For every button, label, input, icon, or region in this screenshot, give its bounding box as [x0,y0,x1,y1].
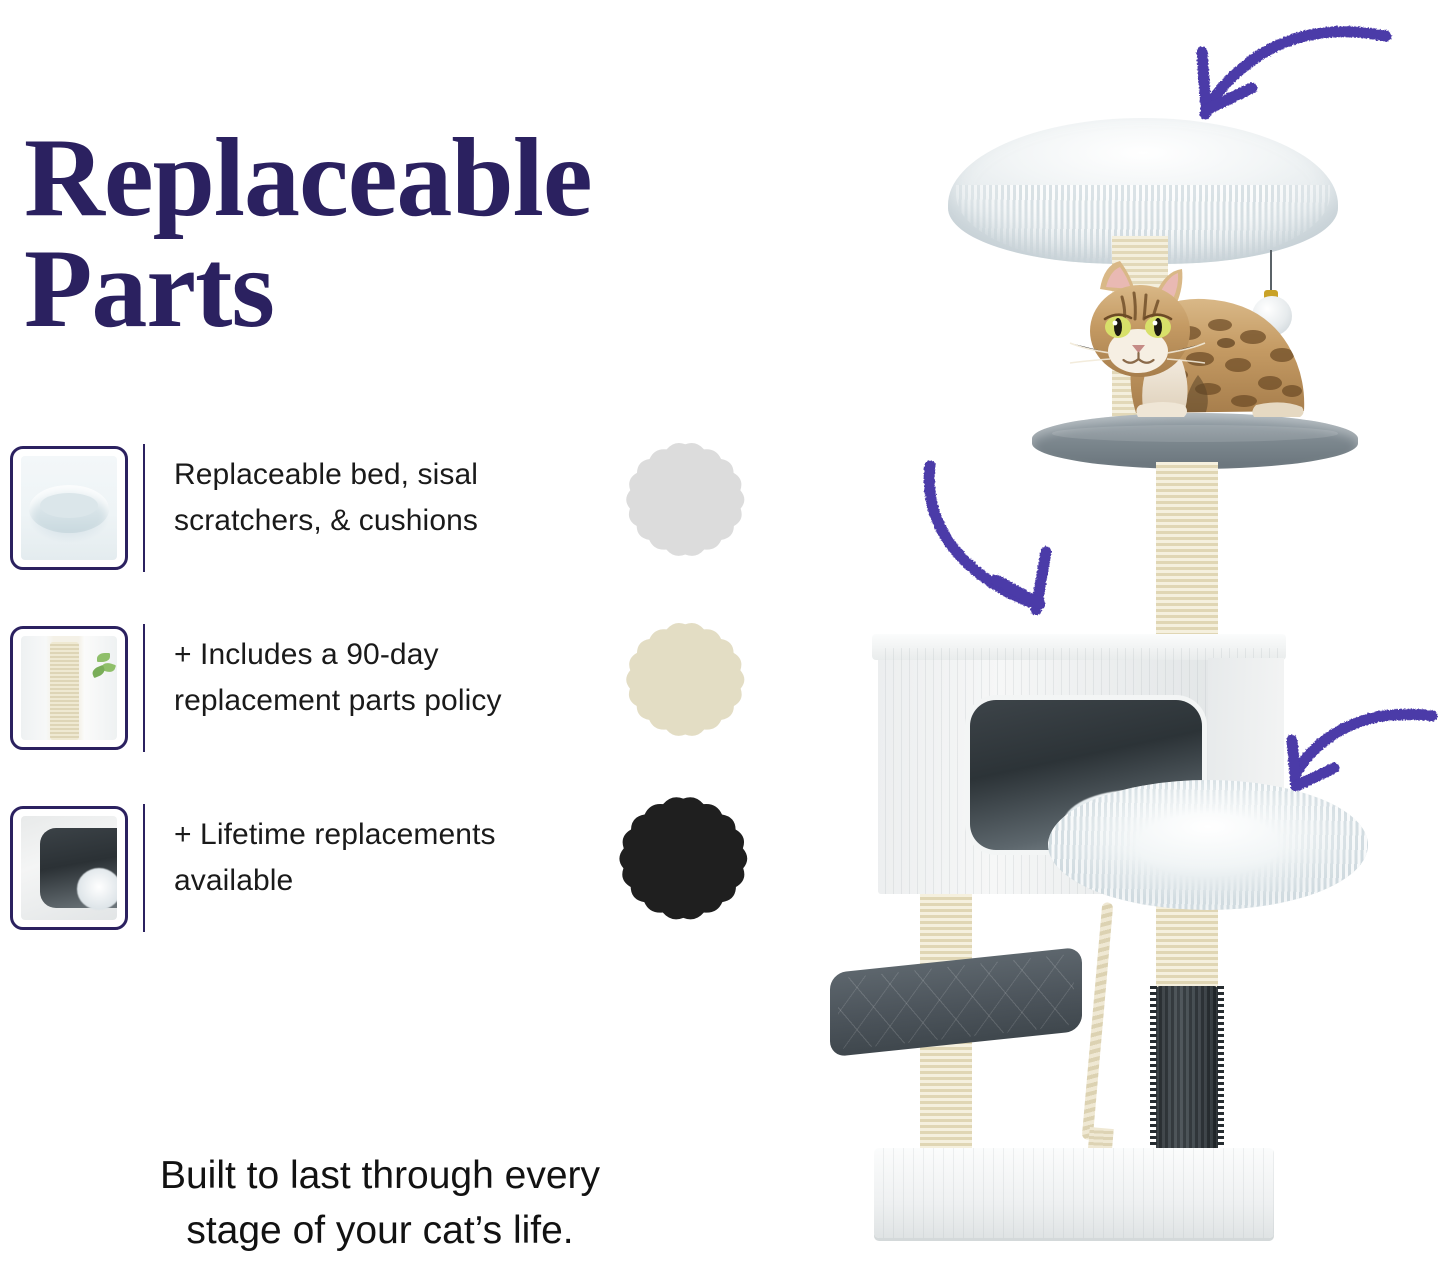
plant-leaf-icon [97,653,110,662]
fluffy-bed-image [21,456,117,560]
light-grey-scallop-swatch [612,440,758,586]
cat-tree-product-image [820,0,1445,1271]
feature-text: + Includes a 90-day replacement parts po… [174,632,604,723]
quilted-cushion-platform [830,947,1082,1057]
tagline-line-2: stage of your cat’s life. [30,1203,730,1258]
feature-text: + Lifetime replacements available [174,812,604,903]
base-board [874,1148,1274,1238]
fluffy-bed-thumbnail [10,446,128,570]
sisal-post-thumbnail [10,626,128,750]
scallop-shape [619,797,747,919]
sisal-post-shape [50,642,79,740]
page-title: Replaceable Parts [24,123,804,345]
condo-opening-image [21,816,117,920]
fluffy-round-perch [1048,780,1368,910]
black-scallop-swatch [604,794,762,952]
feature-divider [143,804,145,932]
condo-cushion-shape [77,868,117,910]
page-title-line-2: Parts [24,234,804,345]
cream-scallop-swatch [612,620,758,766]
feature-divider [143,444,145,572]
scallop-shape [626,623,744,736]
bengal-cat [1048,255,1328,445]
sisal-post-image [21,636,117,740]
hanging-rope-toy [1082,902,1114,1140]
closing-tagline: Built to last through every stage of you… [30,1148,730,1259]
product-feature-graphic: Replaceable Parts Replaceable bed, sisal… [0,0,1445,1271]
scallop-shape [626,443,744,556]
page-title-line-1: Replaceable [24,123,804,234]
tagline-line-1: Built to last through every [30,1148,730,1203]
cat-front-paw [1136,402,1187,417]
feature-divider [143,624,145,752]
condo-opening-thumbnail [10,806,128,930]
feature-text: Replaceable bed, sisal scratchers, & cus… [174,452,604,543]
